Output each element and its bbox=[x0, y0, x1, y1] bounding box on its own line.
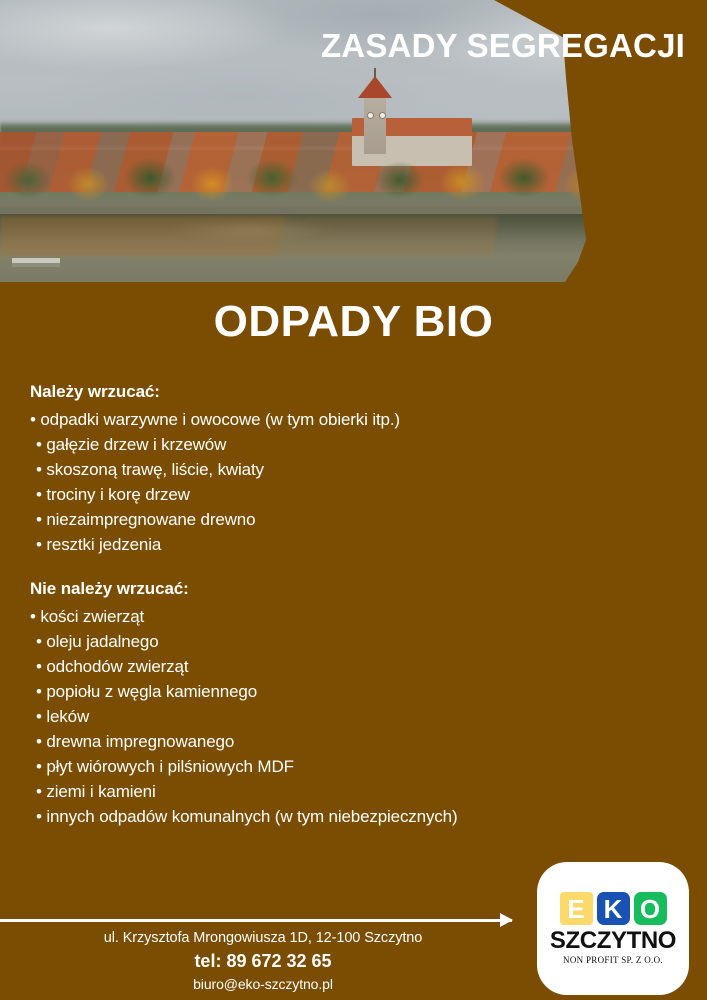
list-item: • trociny i korę drzew bbox=[30, 482, 670, 507]
waste-rules-content: Należy wrzucać: • odpadki warzywne i owo… bbox=[30, 382, 670, 829]
list-item: • odpadki warzywne i owocowe (w tym obie… bbox=[30, 407, 670, 432]
poster-root: ZASADY SEGREGACJI ODPADY BIO Należy wrzu… bbox=[0, 0, 707, 1000]
list-item: • innych odpadów komunalnych (w tym nieb… bbox=[30, 804, 670, 829]
list-item: • odchodów zwierząt bbox=[30, 654, 670, 679]
list-item: • resztki jedzenia bbox=[30, 532, 670, 557]
logo-company-name: SZCZYTNO bbox=[550, 929, 676, 953]
footer-contact: ul. Krzysztofa Mrongowiusza 1D, 12-100 S… bbox=[48, 928, 478, 995]
list-item: • drewna impregnowanego bbox=[30, 729, 670, 754]
arrow-right-icon bbox=[0, 919, 512, 922]
logo-letter-o: O bbox=[634, 892, 667, 925]
clock-tower bbox=[364, 92, 386, 154]
rejected-waste-list: • kości zwierząt • oleju jadalnego • odc… bbox=[30, 604, 670, 829]
rejected-waste-title: Nie należy wrzucać: bbox=[30, 579, 670, 599]
list-item: • kości zwierząt bbox=[30, 604, 670, 629]
accepted-waste-section: Należy wrzucać: • odpadki warzywne i owo… bbox=[30, 382, 670, 557]
logo-company-subtitle: NON PROFIT SP. Z O.O. bbox=[563, 956, 663, 965]
list-item: • oleju jadalnego bbox=[30, 629, 670, 654]
accepted-waste-title: Należy wrzucać: bbox=[30, 382, 670, 402]
list-item: • niezaimpregnowane drewno bbox=[30, 507, 670, 532]
list-item: • płyt wiórowych i pilśniowych MDF bbox=[30, 754, 670, 779]
logo-letter-blocks: E K O bbox=[560, 892, 667, 925]
tower-roof bbox=[358, 76, 392, 98]
list-item: • skoszoną trawę, liście, kwiaty bbox=[30, 457, 670, 482]
lakeside-bench bbox=[12, 258, 60, 267]
clock-face-right bbox=[379, 112, 386, 119]
eko-szczytno-logo[interactable]: E K O SZCZYTNO NON PROFIT SP. Z O.O. bbox=[537, 862, 689, 995]
list-item: • popiołu z węgla kamiennego bbox=[30, 679, 670, 704]
logo-letter-e: E bbox=[560, 892, 593, 925]
tower-spire bbox=[374, 68, 376, 78]
list-item: • leków bbox=[30, 704, 670, 729]
waste-category-heading: ODPADY BIO bbox=[0, 297, 707, 347]
list-item: • ziemi i kamieni bbox=[30, 779, 670, 804]
accepted-waste-list: • odpadki warzywne i owocowe (w tym obie… bbox=[30, 407, 670, 557]
clock-face-left bbox=[367, 112, 374, 119]
footer-address: ul. Krzysztofa Mrongowiusza 1D, 12-100 S… bbox=[48, 928, 478, 949]
footer-email[interactable]: biuro@eko-szczytno.pl bbox=[48, 974, 478, 995]
list-item: • gałęzie drzew i krzewów bbox=[30, 432, 670, 457]
logo-letter-k: K bbox=[597, 892, 630, 925]
page-title: ZASADY SEGREGACJI bbox=[321, 27, 685, 65]
footer-phone[interactable]: tel: 89 672 32 65 bbox=[48, 949, 478, 974]
rejected-waste-section: Nie należy wrzucać: • kości zwierząt • o… bbox=[30, 579, 670, 829]
